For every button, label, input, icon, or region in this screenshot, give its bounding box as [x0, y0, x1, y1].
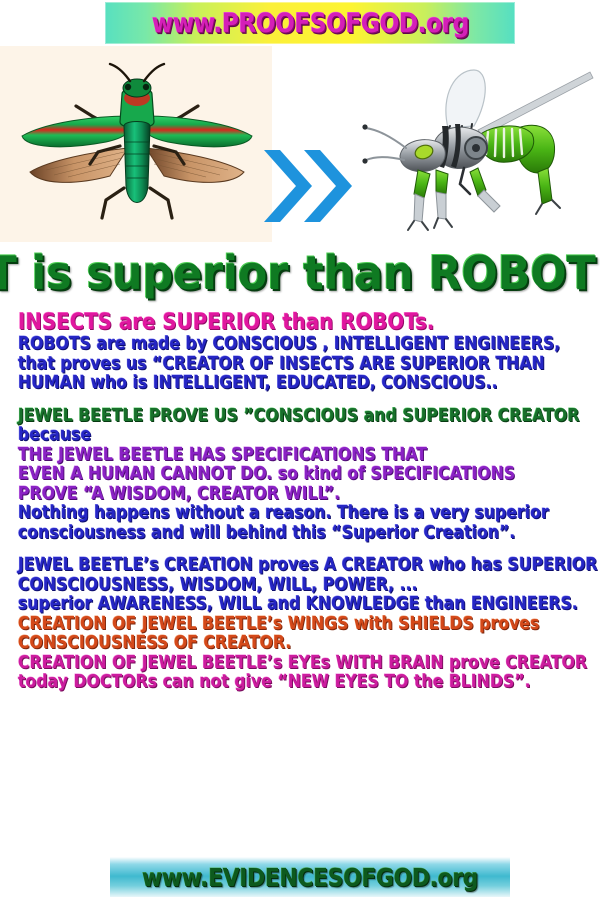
body-line: PROVE “A WISDOM, CREATOR WILL”.: [18, 485, 538, 505]
body-line: CONSCIOUSNESS OF CREATOR.: [18, 634, 538, 654]
body-line: INSECTS are SUPERIOR than ROBOTs.: [18, 310, 538, 335]
image-comparison-strip: [0, 46, 600, 242]
body-line: that proves us “CREATOR OF INSECTS ARE S…: [18, 355, 538, 375]
body-line: EVEN A HUMAN CANNOT DO. so kind of SPECI…: [18, 465, 538, 485]
body-line: ROBOTS are made by CONSCIOUS , INTELLIGE…: [18, 335, 538, 355]
body-line: CREATION OF JEWEL BEETLE’s EYEs WITH BRA…: [18, 654, 538, 674]
body-line: Nothing happens without a reason. There …: [18, 504, 538, 524]
body-line: HUMAN who is INTELLIGENT, EDUCATED, CONS…: [18, 374, 538, 394]
bottom-banner-url: www.EVIDENCESOFGOD.org: [142, 863, 478, 892]
jewel-beetle-image: [6, 60, 268, 232]
body-line: consciousness and will behind this “Supe…: [18, 524, 538, 544]
body-line: JEWEL BEETLE PROVE US ”CONSCIOUS and SUP…: [18, 407, 538, 427]
body-line: superior AWARENESS, WILL and KNOWLEDGE t…: [18, 595, 538, 615]
top-banner[interactable]: www.PROOFSOFGOD.org: [105, 2, 515, 44]
body-line: JEWEL BEETLE’s CREATION proves A CREATOR…: [18, 556, 538, 576]
body-line: THE JEWEL BEETLE HAS SPECIFICATIONS THAT: [18, 446, 538, 466]
robot-insect-image: [352, 64, 596, 234]
body-line: CREATION OF JEWEL BEETLE’s WINGS with SH…: [18, 615, 538, 635]
headline-text: INSECT is superior than ROBOT insect: [0, 250, 600, 296]
bottom-banner[interactable]: www.EVIDENCESOFGOD.org: [110, 857, 510, 897]
poster-root: www.PROOFSOFGOD.org: [0, 0, 600, 900]
body-line: because: [18, 426, 538, 446]
page-title: INSECT is superior than ROBOT insect: [0, 242, 600, 304]
top-banner-url: www.PROOFSOFGOD.org: [151, 8, 468, 39]
body-line: CONSCIOUSNESS, WISDOM, WILL, POWER, ...: [18, 576, 538, 596]
body-line: today DOCTORs can not give “NEW EYES TO …: [18, 673, 538, 693]
double-chevron-right-icon: [258, 144, 358, 228]
body-text-container: INSECTS are SUPERIOR than ROBOTs.ROBOTS …: [18, 310, 596, 693]
